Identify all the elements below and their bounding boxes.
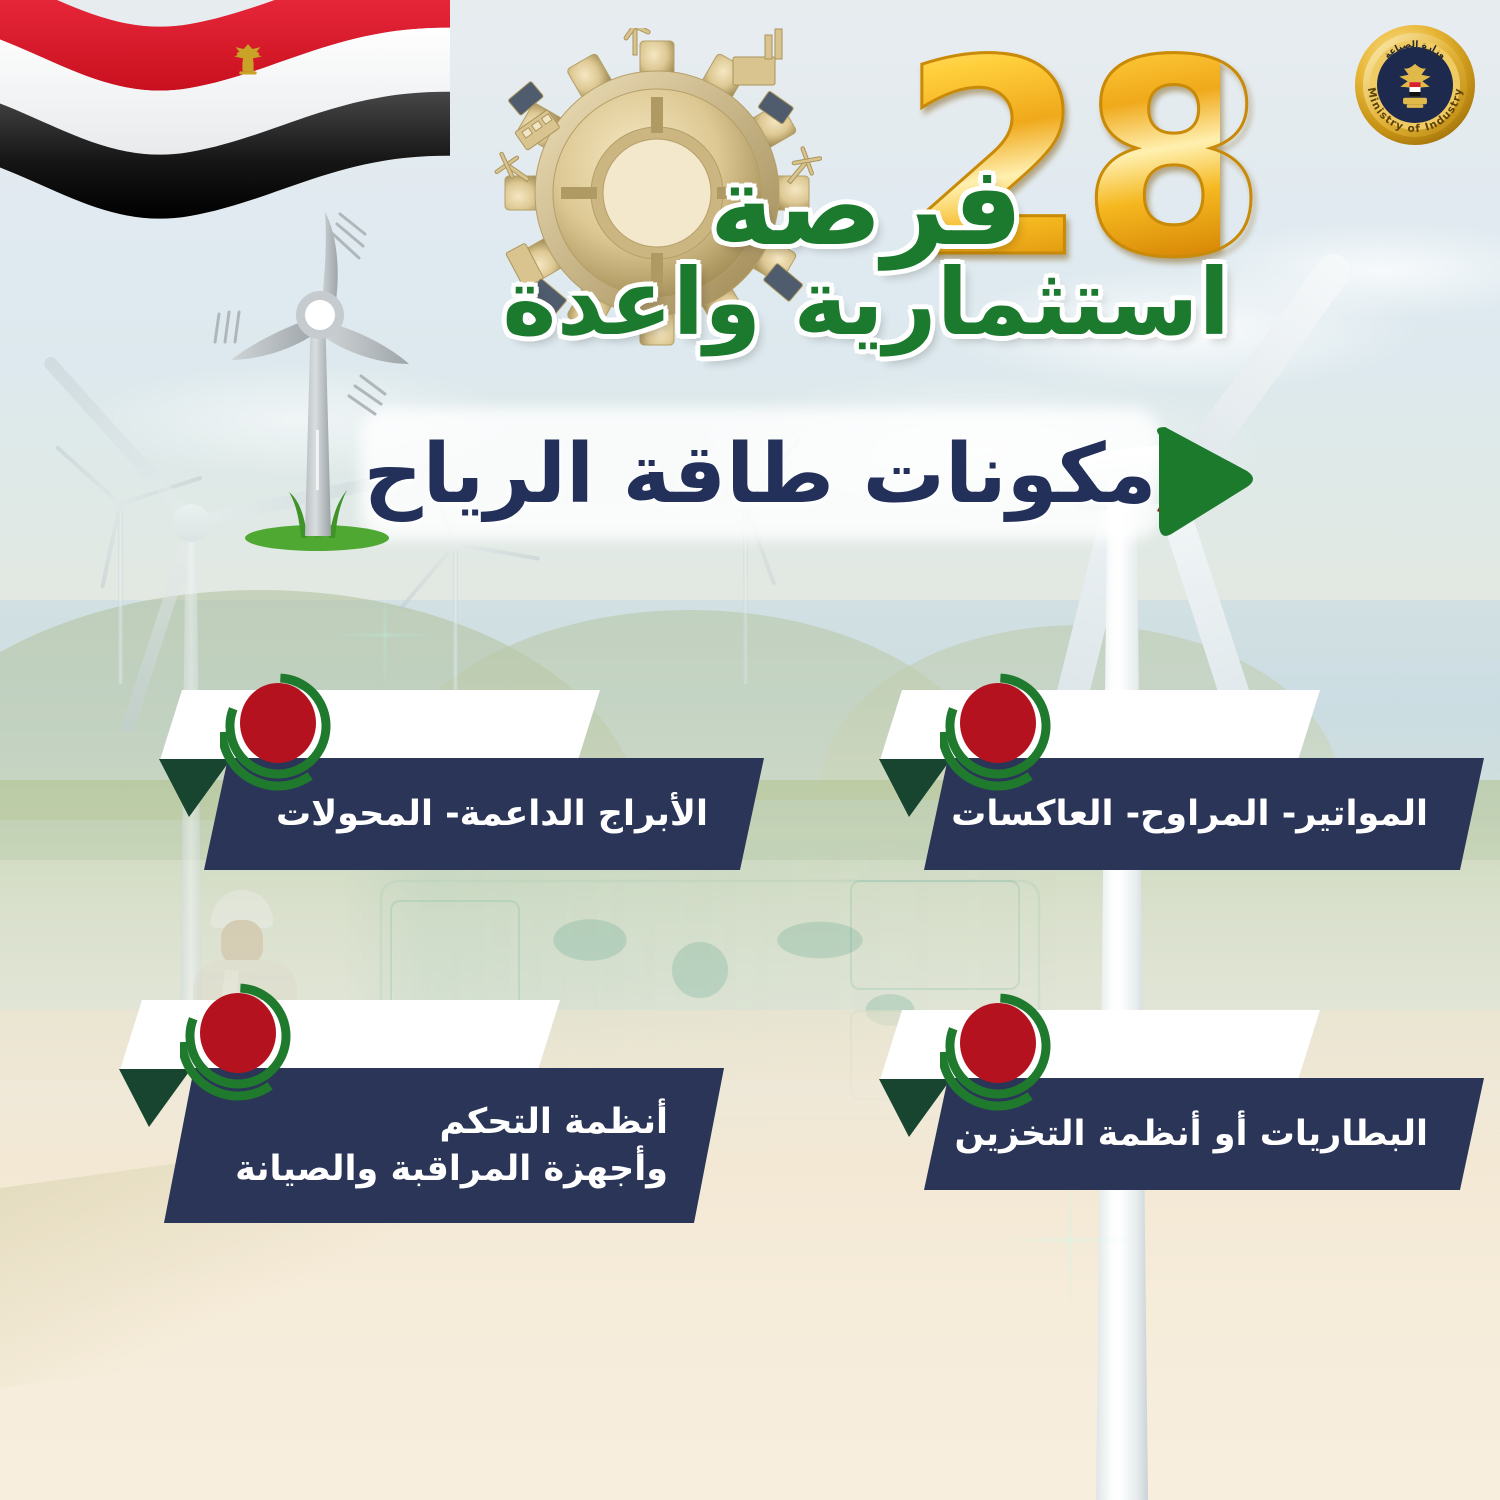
banner-label: البطاريات أو أنظمة التخزين (924, 1111, 1484, 1157)
banner-label: أنظمة التحكم وأجهزة المراقبة والصيانة (164, 1099, 724, 1191)
red-dot-green-rings-icon (220, 668, 336, 792)
lens-sparkle (330, 580, 440, 690)
red-dot-green-rings-icon (180, 978, 296, 1102)
headline-line-2: استثمارية واعدة (502, 256, 1230, 350)
red-dot-green-rings-icon (940, 668, 1056, 792)
infographic-canvas: وزارة الصناعة Ministry of Industry (0, 0, 1500, 1500)
banner-label-line-1: أنظمة التحكم (228, 1099, 668, 1145)
headline-green: فرصة استثمارية واعدة (502, 150, 1230, 350)
page-title: مكونات طاقة الرياح (360, 408, 1160, 540)
wind-turbine-icon (175, 200, 465, 560)
banner-label: الأبراج الداعمة- المحولات (204, 791, 764, 837)
banner-label: المواتير- المراوح- العاكسات (924, 791, 1484, 837)
banner-label-line-2: وأجهزة المراقبة والصيانة (228, 1146, 668, 1192)
red-dot-green-rings-icon (940, 988, 1056, 1112)
green-play-arrow-icon (1135, 415, 1275, 550)
lens-sparkle (1000, 1170, 1140, 1310)
headline-line-1: فرصة (502, 150, 1230, 262)
holo-card-1 (850, 880, 1020, 990)
ministry-of-industry-seal: وزارة الصناعة Ministry of Industry (1352, 22, 1478, 148)
page-title-text: مكونات طاقة الرياح (360, 408, 1160, 540)
